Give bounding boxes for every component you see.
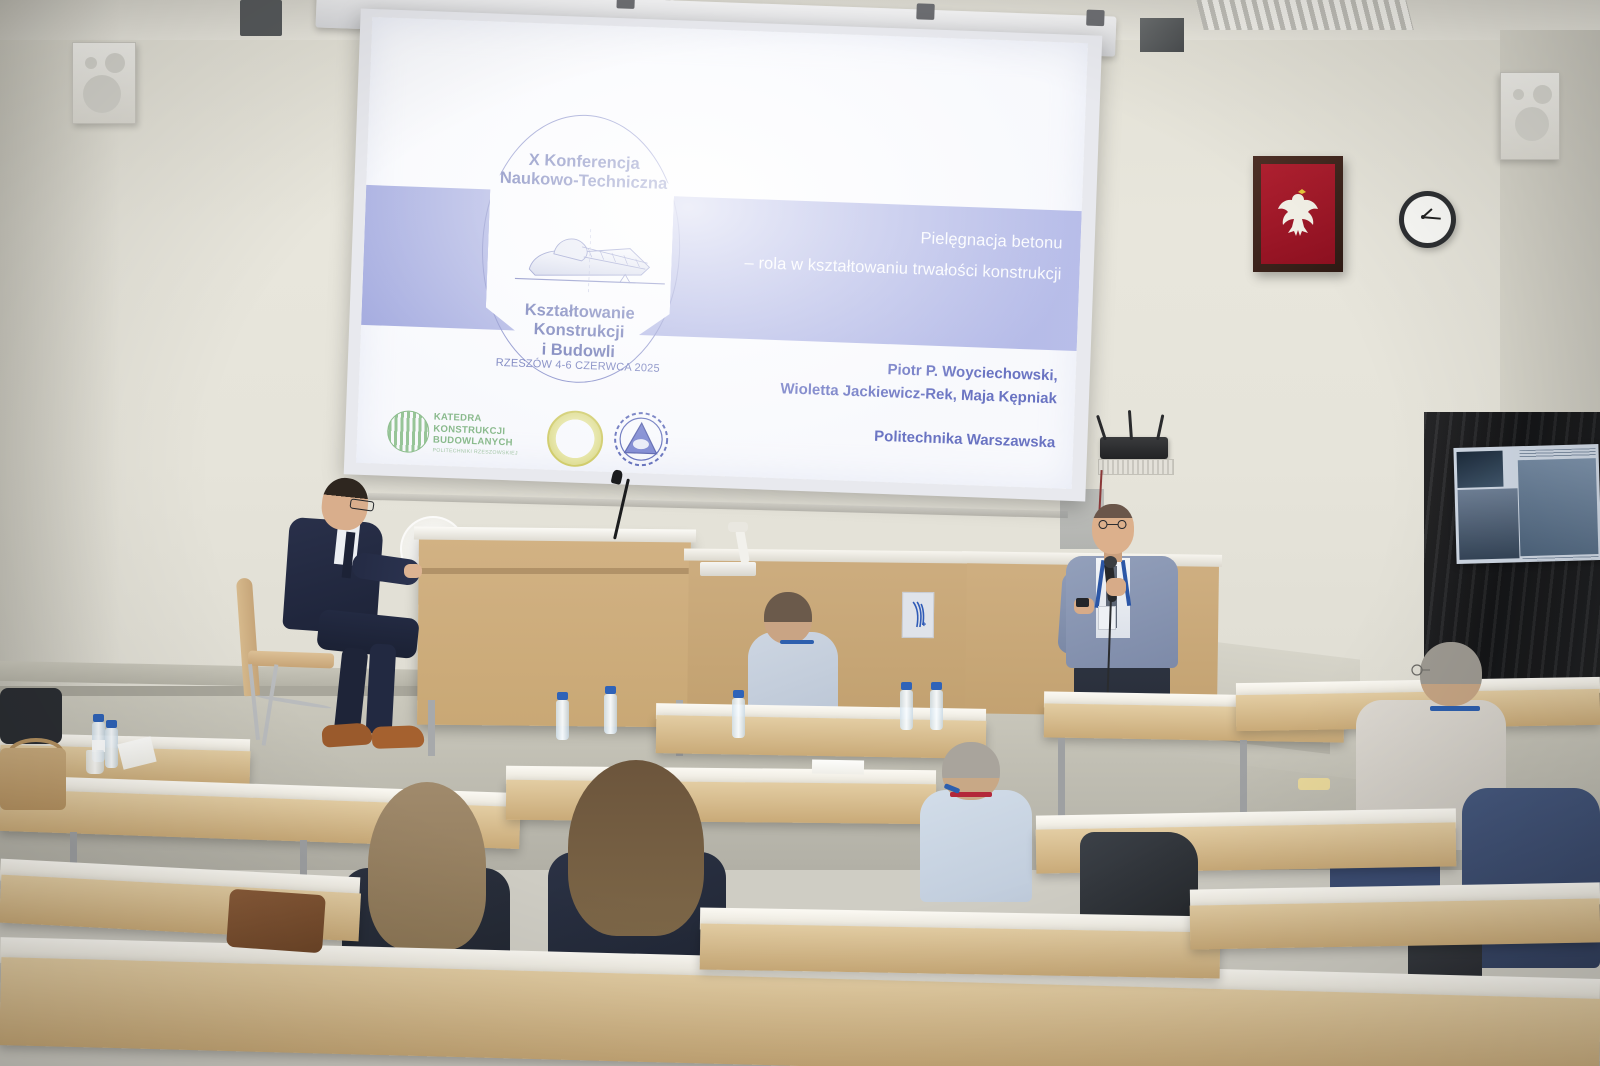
- router-mount-bracket: [1098, 459, 1174, 475]
- bottle-cap: [106, 720, 117, 728]
- eagle-icon: [1272, 183, 1324, 245]
- drinking-glass[interactable]: [86, 750, 104, 774]
- bottle-cap: [93, 714, 104, 722]
- moderator-shoe: [321, 722, 372, 747]
- leather-bag: [226, 889, 326, 954]
- attendee-glasses-icon: [1410, 664, 1436, 676]
- moderator-leg: [366, 643, 397, 734]
- polish-eagle-emblem: [1253, 156, 1343, 272]
- presenter-hand-right: [1106, 578, 1126, 596]
- document-camera-head-icon: [728, 522, 748, 532]
- attendee-lanyard: [1430, 706, 1480, 711]
- logo-katedra-konstrukcji: KATEDRA KONSTRUKCJI BUDOWLANYCH POLITECH…: [386, 406, 528, 459]
- presenter-badge: [1098, 606, 1116, 630]
- bottle-cap: [733, 690, 744, 698]
- water-bottle[interactable]: [604, 694, 617, 734]
- slide-authors: Piotr P. Woyciechowski, Wioletta Jackiew…: [657, 350, 1058, 411]
- bench-leg: [1058, 738, 1065, 824]
- katedra-text: KATEDRA KONSTRUKCJI BUDOWLANYCH: [433, 412, 528, 450]
- slide-affiliation: Politechnika Warszawska: [655, 420, 1055, 452]
- paper-sheet[interactable]: [812, 760, 864, 775]
- water-bottle[interactable]: [556, 700, 569, 740]
- bottle-cap: [901, 682, 912, 690]
- bottle-cap: [605, 686, 616, 694]
- institution-logo-icon: [908, 599, 928, 631]
- wifi-router: [1100, 437, 1168, 459]
- moderator-hand: [404, 564, 422, 578]
- ceiling-mount-bracket-icon: [1140, 18, 1184, 52]
- institution-logo-decal: [902, 592, 934, 638]
- wall-clock: [1399, 191, 1456, 248]
- chair-seat: [248, 651, 334, 669]
- lectern-trim: [418, 568, 690, 574]
- water-bottle[interactable]: [105, 728, 118, 768]
- bottle-cap: [557, 692, 568, 700]
- structure-line-art-icon: [508, 218, 671, 304]
- conference-logo-subtitle: Kształtowanie Konstrukcji i Budowli: [478, 299, 680, 365]
- presentation-slide: X Konferencja Naukowo-Techniczna Kształt…: [356, 17, 1088, 489]
- dark-bag: [0, 688, 62, 744]
- microphone-head-icon: [1104, 556, 1117, 568]
- bench-row: [700, 923, 1221, 978]
- wall-speaker-right-icon: [1500, 72, 1560, 160]
- attendee-grey-hair-body: [920, 790, 1032, 902]
- conference-logo-title: X Konferencja Naukowo-Techniczna: [490, 149, 677, 195]
- logo-pzitb-icon: [612, 410, 670, 468]
- moderator-shoe: [372, 725, 425, 749]
- presenter-head: [1092, 504, 1134, 554]
- attendee-woman-left-hair: [368, 782, 486, 950]
- wall-speaker-left-icon: [72, 42, 136, 124]
- bench-row: [1190, 898, 1600, 949]
- presentation-clicker[interactable]: [1076, 598, 1089, 607]
- water-bottle[interactable]: [930, 690, 943, 730]
- attendee-lanyard: [780, 640, 814, 644]
- handbag: [0, 748, 66, 810]
- small-object: [1298, 778, 1330, 790]
- conference-poster[interactable]: [1453, 444, 1600, 564]
- water-bottle[interactable]: [900, 690, 913, 730]
- presenter-glasses-icon: [1094, 520, 1132, 529]
- bottle-cap: [931, 682, 942, 690]
- document-camera[interactable]: [700, 562, 756, 576]
- lectern: [417, 533, 691, 728]
- katedra-mark-icon: [386, 410, 430, 454]
- lectern-leg: [428, 700, 435, 756]
- ceiling-light-panel-right: [1196, 0, 1413, 30]
- lecture-hall-photo: X Konferencja Naukowo-Techniczna Kształt…: [0, 0, 1600, 1066]
- logo-federacja-seal-icon: [546, 410, 604, 468]
- attendee-woman-center-hair: [568, 760, 704, 936]
- water-bottle[interactable]: [732, 698, 745, 738]
- projector-bracket-icon: [240, 0, 282, 36]
- bench-row: [506, 780, 936, 825]
- attendee-front-center-head: [764, 592, 812, 644]
